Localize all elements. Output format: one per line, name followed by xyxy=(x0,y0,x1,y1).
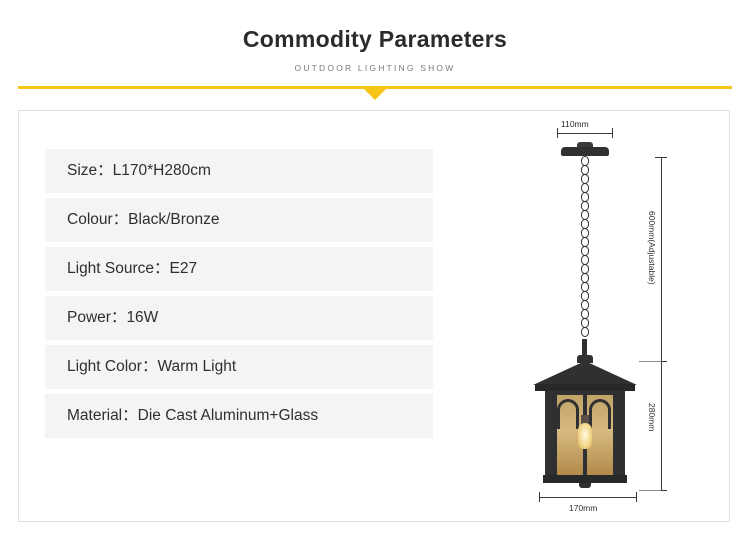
page-root: Commodity Parameters OUTDOOR LIGHTING SH… xyxy=(0,0,750,544)
lantern-eave xyxy=(535,384,635,391)
guide-line-lantern-bottom xyxy=(639,490,661,491)
product-diagram: 110mm xyxy=(449,111,729,521)
spec-label-light-color: Light Color： xyxy=(67,358,157,375)
right-dim-label-upper: 600mm(Adjustable) xyxy=(647,211,657,285)
divider-arrow-icon xyxy=(364,89,386,100)
lantern-body xyxy=(533,355,637,495)
top-dim-tick-right xyxy=(612,128,613,138)
spec-value-material: Die Cast Aluminum+Glass xyxy=(138,407,318,424)
page-title: Commodity Parameters xyxy=(0,0,750,53)
page-subtitle: OUTDOOR LIGHTING SHOW xyxy=(0,53,750,73)
spec-value-colour: Black/Bronze xyxy=(128,211,219,228)
light-bulb xyxy=(578,423,592,449)
bottom-dim-label: 170mm xyxy=(569,503,597,513)
bottom-dim-line xyxy=(539,497,637,498)
spec-value-size: L170*H280cm xyxy=(113,162,211,179)
spec-list: Size：L170*H280cm Colour：Black/Bronze Lig… xyxy=(45,149,433,443)
spec-row-size: Size：L170*H280cm xyxy=(45,149,433,193)
right-dim-axis-upper xyxy=(661,157,662,361)
lantern-roof xyxy=(533,361,637,385)
content-frame: Size：L170*H280cm Colour：Black/Bronze Lig… xyxy=(18,110,730,522)
spec-label-material: Material： xyxy=(67,407,138,424)
spec-value-light-color: Warm Light xyxy=(157,358,236,375)
spec-row-material: Material：Die Cast Aluminum+Glass xyxy=(45,394,433,438)
spec-label-light-source: Light Source： xyxy=(67,260,170,277)
lantern-mullion-left xyxy=(553,395,557,475)
bottom-dim-tick-left xyxy=(539,492,540,502)
right-dim-axis-lower xyxy=(661,361,662,491)
spec-label-power: Power： xyxy=(67,309,126,326)
guide-line-lantern-top xyxy=(639,361,661,362)
header-divider xyxy=(0,86,750,102)
spec-row-light-source: Light Source：E27 xyxy=(45,247,433,291)
top-dim-line xyxy=(557,133,613,134)
spec-value-light-source: E27 xyxy=(170,260,198,277)
header: Commodity Parameters OUTDOOR LIGHTING SH… xyxy=(0,0,750,90)
lantern-mullion-right xyxy=(613,395,617,475)
top-dim-label: 110mm xyxy=(561,119,589,129)
spec-label-colour: Colour： xyxy=(67,211,128,228)
right-dim-label-lower: 280mm xyxy=(647,403,657,431)
lantern-arch-right xyxy=(589,399,611,429)
lantern-base-plate xyxy=(543,475,627,483)
suspension-chain xyxy=(580,156,590,341)
right-dim-tick-top xyxy=(655,157,667,158)
bottom-dim-tick-right xyxy=(636,492,637,502)
spec-row-light-color: Light Color：Warm Light xyxy=(45,345,433,389)
spec-value-power: 16W xyxy=(126,309,158,326)
spec-label-size: Size： xyxy=(67,162,113,179)
spec-row-colour: Colour：Black/Bronze xyxy=(45,198,433,242)
top-dim-tick-left xyxy=(557,128,558,138)
lantern-arch-left xyxy=(557,399,579,429)
lantern-foot xyxy=(579,483,591,488)
spec-row-power: Power：16W xyxy=(45,296,433,340)
ceiling-canopy xyxy=(561,147,609,156)
